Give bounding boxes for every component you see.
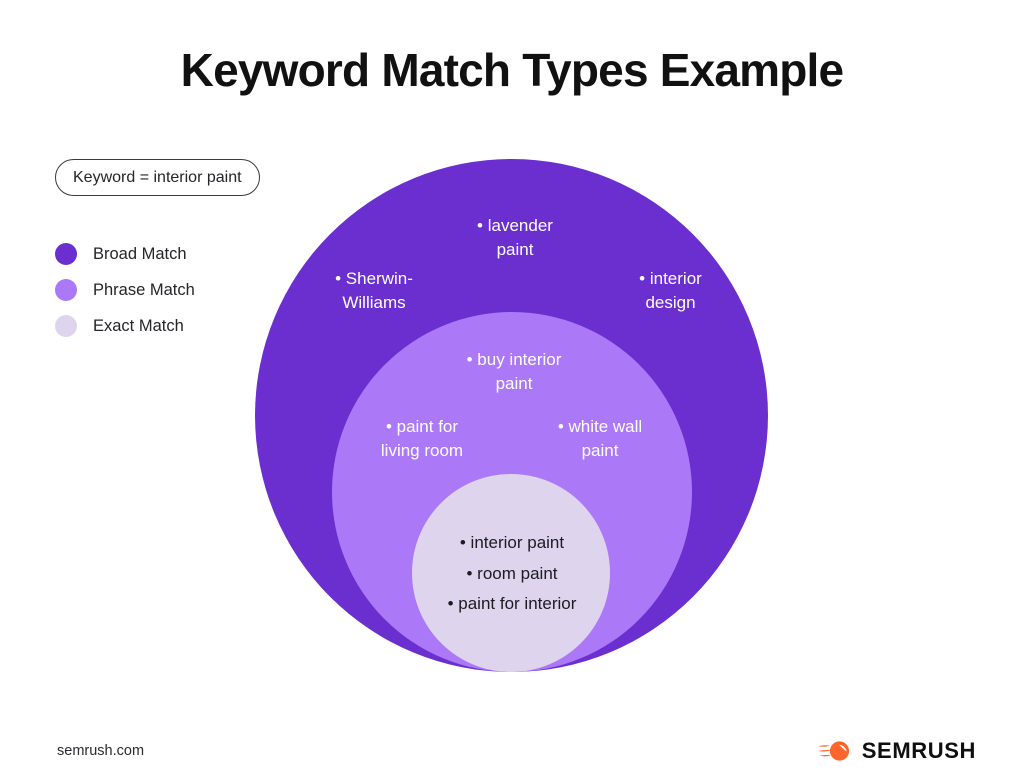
keyword-term-buy-interior-paint: • buy interior paint — [438, 348, 590, 396]
keyword-term-paint-for-living-room: • paint for living room — [348, 415, 496, 463]
source-url: semrush.com — [57, 743, 144, 759]
keyword-term-white-wall-paint: • white wall paint — [530, 415, 670, 463]
semrush-logo: SEMRUSH — [818, 739, 976, 763]
keyword-term-paint-for-interior: • paint for interior — [424, 592, 600, 616]
keyword-term-room-paint: • room paint — [424, 562, 600, 586]
keyword-term-lavender-paint: • lavender paint — [440, 214, 590, 262]
semrush-comet-icon — [818, 739, 852, 763]
keyword-term-sherwin-williams: • Sherwin- Williams — [300, 267, 448, 315]
semrush-wordmark: SEMRUSH — [862, 740, 976, 762]
keyword-term-interior-design: • interior design — [598, 267, 743, 315]
venn-diagram: • lavender paint • Sherwin- Williams • i… — [0, 0, 1024, 781]
keyword-term-interior-paint: • interior paint — [424, 531, 600, 555]
infographic-canvas: Keyword Match Types Example Keyword = in… — [0, 0, 1024, 781]
